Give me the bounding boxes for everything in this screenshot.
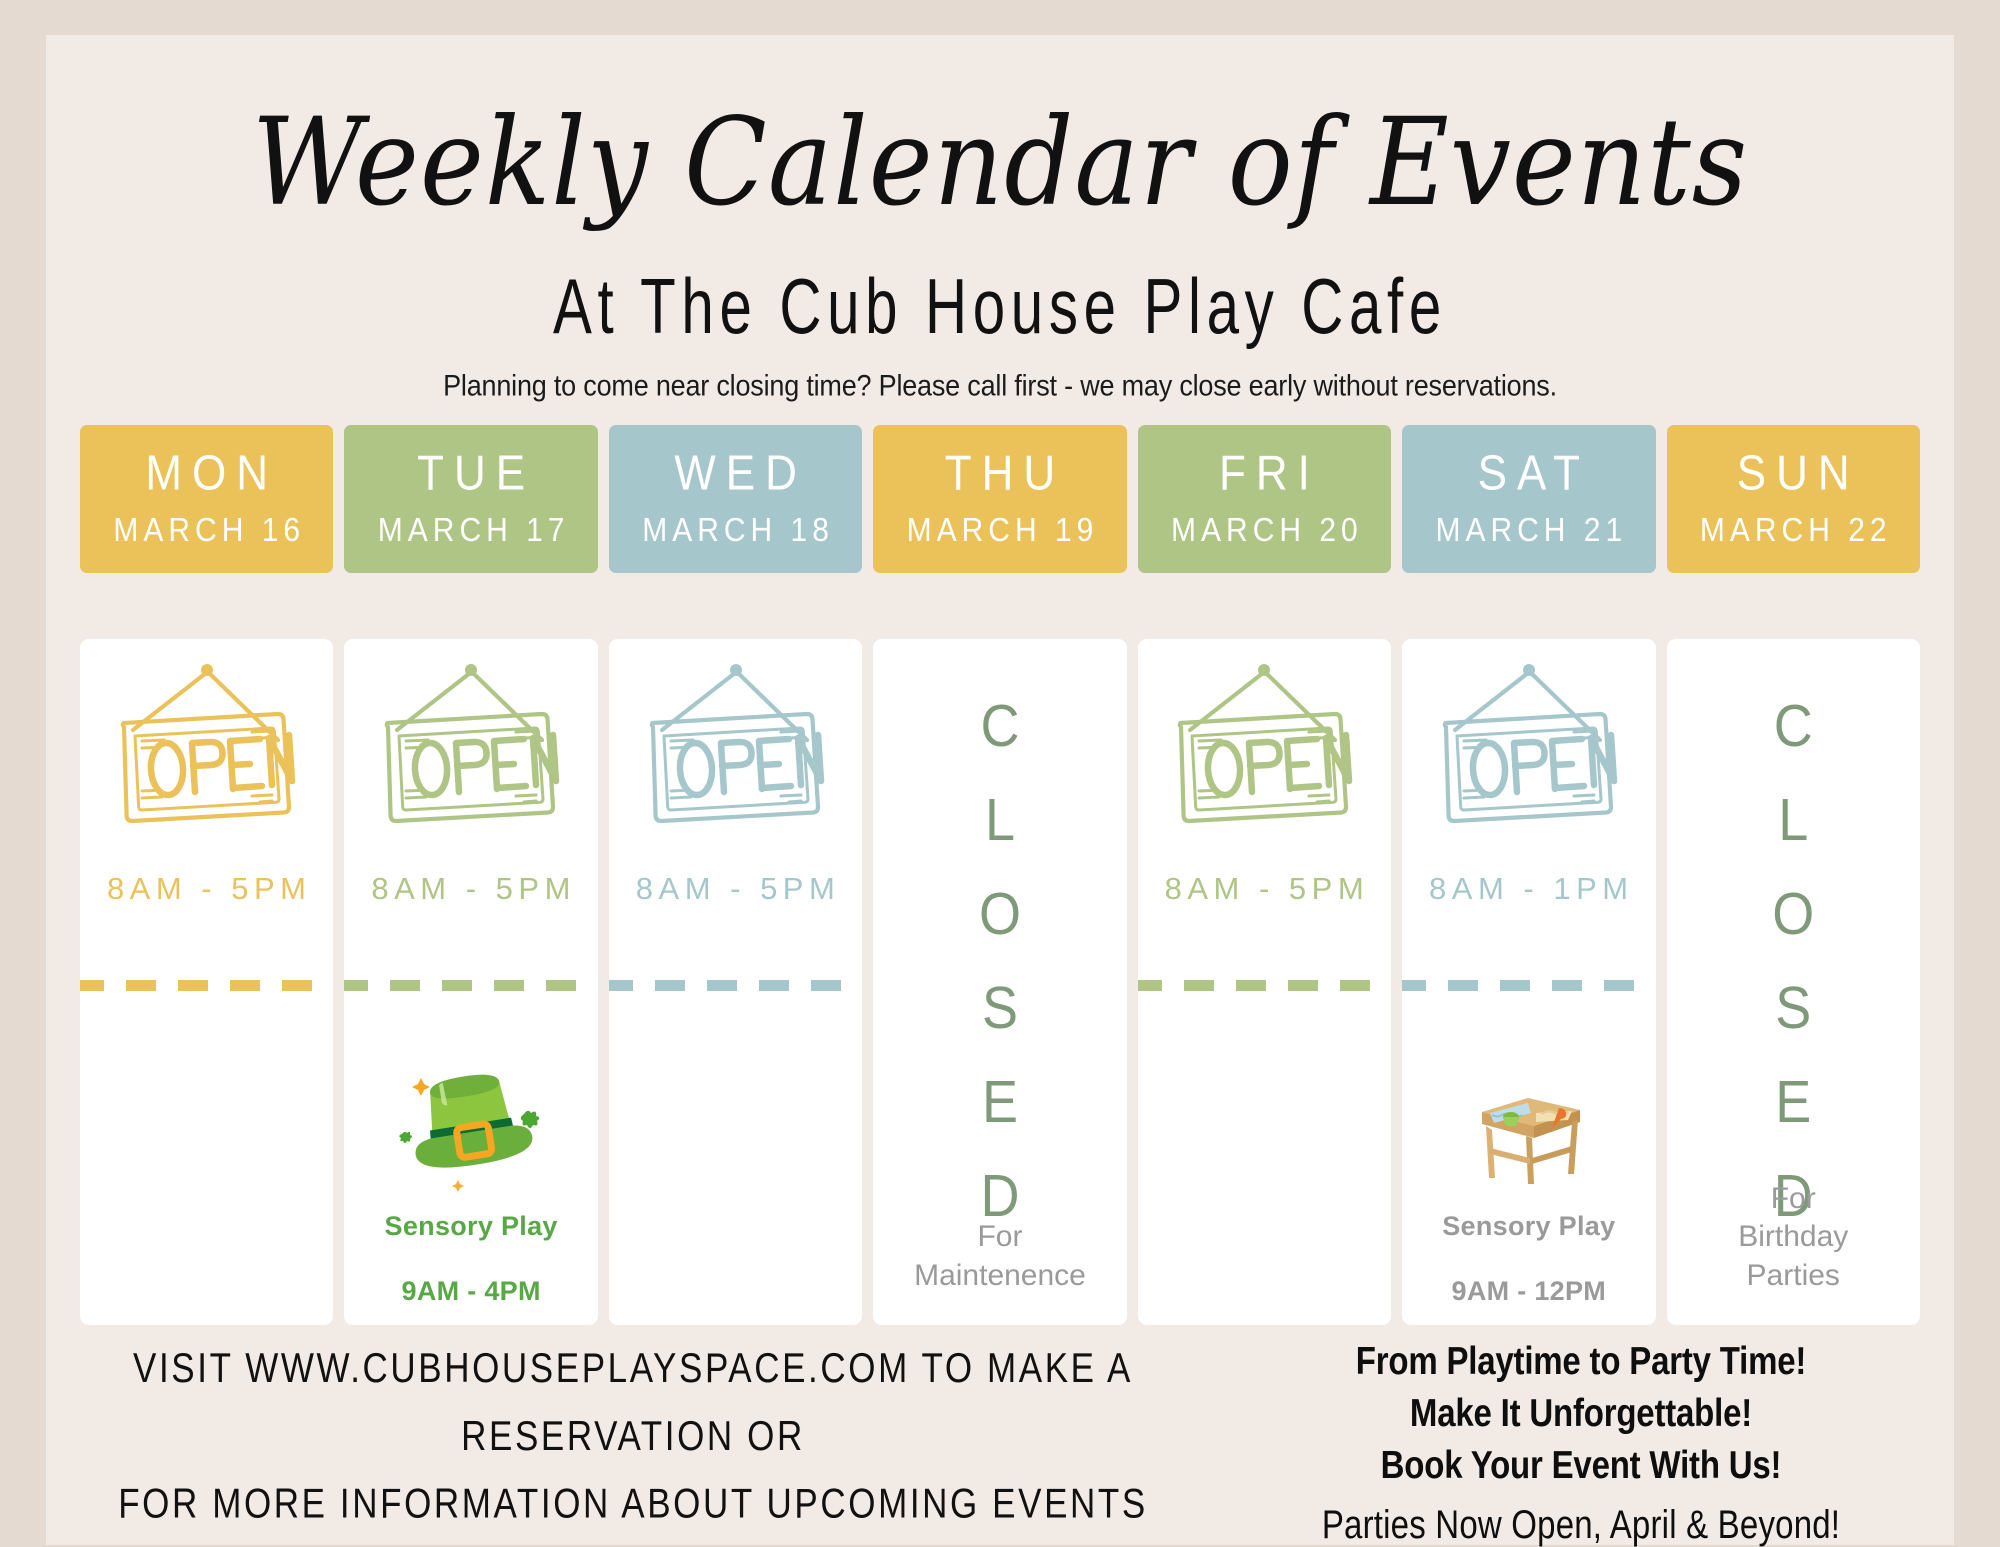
open-sign-wrap <box>102 657 312 832</box>
open-block <box>344 639 597 985</box>
closed-letter: E <box>1775 1072 1811 1131</box>
sand-water-table-icon <box>1464 1082 1594 1197</box>
open-sign-wrap <box>631 657 841 832</box>
day-header-fri[interactable]: FRIMARCH 20 <box>1138 425 1391 573</box>
day-card-tue[interactable]: 8AM - 5PM Sensory Play9AM - 4PM <box>344 639 597 1325</box>
day-header-tue[interactable]: TUEMARCH 17 <box>344 425 597 573</box>
closed-reason-line: For <box>873 1218 1126 1256</box>
day-name: FRI <box>1209 448 1320 500</box>
day-name: WED <box>664 448 807 500</box>
closing-time-notice: Planning to come near closing time? Plea… <box>46 369 1954 403</box>
poster-panel: Weekly Calendar of Events At The Cub Hou… <box>46 35 1954 1545</box>
opening-hours: 8AM - 1PM <box>1402 871 1655 907</box>
party-headline-line: From Playtime to Party Time! <box>1236 1335 1926 1387</box>
dashed-divider <box>1402 980 1655 991</box>
open-block <box>609 639 862 985</box>
event-title: Sensory Play <box>385 1211 558 1242</box>
page-title: Weekly Calendar of Events <box>46 93 1954 233</box>
closed-reason: ForMaintenence <box>873 1218 1126 1295</box>
event-time: 9AM - 4PM <box>402 1276 541 1307</box>
open-block <box>80 639 333 985</box>
dashed-divider <box>344 980 597 991</box>
event-time: 9AM - 12PM <box>1452 1276 1607 1307</box>
closed-letter: L <box>985 790 1015 849</box>
opening-hours: 8AM - 5PM <box>344 871 597 907</box>
closed-reason-line: Birthday <box>1667 1218 1920 1256</box>
dashed-divider <box>609 980 862 991</box>
dashed-divider <box>1138 980 1391 991</box>
footer-party-block: From Playtime to Party Time!Make It Unfo… <box>1236 1335 1926 1540</box>
day-card-wed[interactable]: 8AM - 5PM <box>609 639 862 1325</box>
day-date: MARCH 22 <box>1695 513 1892 548</box>
party-headline-line: Book Your Event With Us! <box>1236 1439 1926 1491</box>
day-card-mon[interactable]: 8AM - 5PM <box>80 639 333 1325</box>
day-name: THU <box>935 448 1065 500</box>
day-card-fri[interactable]: 8AM - 5PM <box>1138 639 1391 1325</box>
event-block: Sensory Play9AM - 4PM <box>344 1062 597 1307</box>
day-card-row: 8AM - 5PM 8AM - 5PM <box>80 639 1920 1325</box>
open-sign-icon <box>366 657 576 827</box>
party-headline-line: Make It Unforgettable! <box>1236 1387 1926 1439</box>
footer-line: VISIT WWW.CUBHOUSEPLAYSPACE.COM TO MAKE … <box>88 1335 1178 1471</box>
closed-letter: L <box>1778 790 1808 849</box>
day-date: MARCH 19 <box>902 513 1099 548</box>
open-sign-wrap <box>1159 657 1369 832</box>
page-subtitle: At The Cub House Play Cafe <box>103 263 1897 352</box>
day-header-wed[interactable]: WEDMARCH 18 <box>609 425 862 573</box>
closed-reason-line: Maintenence <box>873 1257 1126 1295</box>
day-date: MARCH 17 <box>373 513 570 548</box>
closed-letter: S <box>982 978 1018 1037</box>
closed-reason: ForBirthdayParties <box>1667 1180 1920 1295</box>
day-card-thu[interactable]: CLOSEDForMaintenence <box>873 639 1126 1325</box>
closed-letter: O <box>1772 884 1814 943</box>
closed-letter: E <box>982 1072 1018 1131</box>
closed-label: CLOSED <box>1667 699 1920 1263</box>
event-block: Sensory Play9AM - 12PM <box>1402 1082 1655 1307</box>
footer-line: FOR MORE INFORMATION ABOUT UPCOMING EVEN… <box>88 1471 1178 1539</box>
opening-hours: 8AM - 5PM <box>1138 871 1391 907</box>
closed-letter: D <box>980 1166 1019 1225</box>
open-block <box>1402 639 1655 985</box>
sand-water-table-icon <box>1464 1082 1594 1192</box>
day-name: SAT <box>1468 448 1590 500</box>
closed-reason-line: For <box>1667 1180 1920 1218</box>
closed-letter: C <box>1774 696 1813 755</box>
day-date: MARCH 20 <box>1166 513 1363 548</box>
closed-label: CLOSED <box>873 699 1126 1263</box>
day-date: MARCH 18 <box>637 513 834 548</box>
open-sign-wrap <box>1424 657 1634 832</box>
open-sign-wrap <box>366 657 576 832</box>
day-name: SUN <box>1727 448 1860 500</box>
day-header-sat[interactable]: SATMARCH 21 <box>1402 425 1655 573</box>
day-name: MON <box>135 448 278 500</box>
leprechaun-hat-icon <box>396 1062 546 1197</box>
day-card-sat[interactable]: 8AM - 1PM Sensory Play9AM - 12PM <box>1402 639 1655 1325</box>
closed-reason-line: Parties <box>1667 1257 1920 1295</box>
open-sign-icon <box>1159 657 1369 827</box>
closed-letter: S <box>1775 978 1811 1037</box>
day-name: TUE <box>407 448 535 500</box>
poster-root: Weekly Calendar of Events At The Cub Hou… <box>0 0 2000 1545</box>
party-subline: Parties Now Open, April & Beyond! <box>1236 1502 1926 1547</box>
event-title: Sensory Play <box>1442 1211 1615 1242</box>
closed-letter: C <box>980 696 1019 755</box>
day-header-mon[interactable]: MONMARCH 16 <box>80 425 333 573</box>
opening-hours: 8AM - 5PM <box>80 871 333 907</box>
open-sign-icon <box>102 657 312 827</box>
leprechaun-hat-icon <box>396 1062 546 1192</box>
day-header-sun[interactable]: SUNMARCH 22 <box>1667 425 1920 573</box>
footer-reservation-text: VISIT WWW.CUBHOUSEPLAYSPACE.COM TO MAKE … <box>88 1335 1178 1539</box>
party-headline: From Playtime to Party Time!Make It Unfo… <box>1236 1335 1926 1492</box>
dashed-divider <box>80 980 333 991</box>
open-sign-icon <box>631 657 841 827</box>
open-sign-icon <box>1424 657 1634 827</box>
closed-letter: O <box>979 884 1021 943</box>
day-date: MARCH 21 <box>1430 513 1627 548</box>
day-header-thu[interactable]: THUMARCH 19 <box>873 425 1126 573</box>
open-block <box>1138 639 1391 985</box>
day-card-sun[interactable]: CLOSEDForBirthdayParties <box>1667 639 1920 1325</box>
opening-hours: 8AM - 5PM <box>609 871 862 907</box>
day-date: MARCH 16 <box>108 513 305 548</box>
day-header-row: MONMARCH 16TUEMARCH 17WEDMARCH 18THUMARC… <box>80 425 1920 573</box>
